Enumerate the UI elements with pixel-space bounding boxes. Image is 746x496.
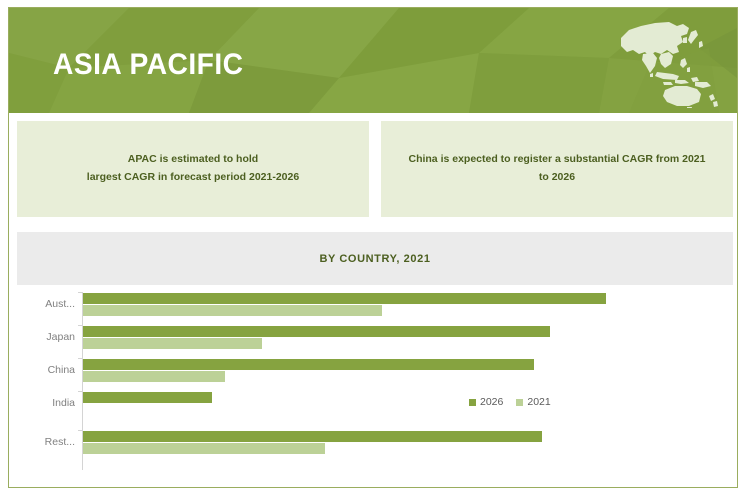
category-label-aust: Aust... [17,298,75,310]
chart-row-china: China [17,358,733,391]
bar-aust-2026[interactable] [83,293,606,304]
category-label-china: China [17,364,75,376]
legend-swatch-2026 [469,399,476,406]
callout-china-line2: to 2026 [408,169,705,187]
page-title: ASIA PACIFIC [53,48,244,82]
header-banner: ASIA PACIFIC [9,8,737,113]
bar-rest-2026[interactable] [83,431,542,442]
chart-row-india: India [17,391,733,424]
bar-china-2021[interactable] [83,371,225,382]
chart-row-rest: Rest... [17,430,733,463]
legend-label-2026: 2026 [480,396,503,408]
callout-china-cagr: China is expected to register a substant… [381,121,733,217]
category-label-rest: Rest... [17,436,75,448]
callout-china-line1: China is expected to register a substant… [408,151,705,169]
axis-tick [78,292,82,293]
callout-apac-line1: APAC is estimated to hold [87,151,299,169]
bar-china-2026[interactable] [83,359,534,370]
asia-pacific-map-icon [603,16,723,108]
chart-row-japan: Japan [17,325,733,358]
legend-swatch-2021 [516,399,523,406]
category-label-japan: Japan [17,331,75,343]
chart-title: BY COUNTRY, 2021 [319,253,430,265]
asia-pacific-slide: ASIA PACIFIC [0,0,746,496]
axis-tick [78,391,82,392]
bar-rest-2021[interactable] [83,443,325,454]
axis-tick [78,358,82,359]
chart-row-aust: Aust... [17,292,733,325]
axis-tick [78,325,82,326]
chart-legend: 2026 2021 [469,396,559,408]
legend-item-2026[interactable]: 2026 [469,396,503,408]
bar-japan-2021[interactable] [83,338,262,349]
country-bar-chart: Aust... Japan China India Rest... [17,292,733,477]
bar-japan-2026[interactable] [83,326,550,337]
legend-item-2021[interactable]: 2021 [516,396,550,408]
legend-label-2021: 2021 [527,396,550,408]
chart-title-bar: BY COUNTRY, 2021 [17,232,733,285]
callout-apac-line2: largest CAGR in forecast period 2021-202… [87,169,299,187]
bar-india-2026[interactable] [83,392,212,403]
category-label-india: India [17,397,75,409]
bar-aust-2021[interactable] [83,305,382,316]
axis-tick [78,430,82,431]
callout-apac-cagr: APAC is estimated to hold largest CAGR i… [17,121,369,217]
